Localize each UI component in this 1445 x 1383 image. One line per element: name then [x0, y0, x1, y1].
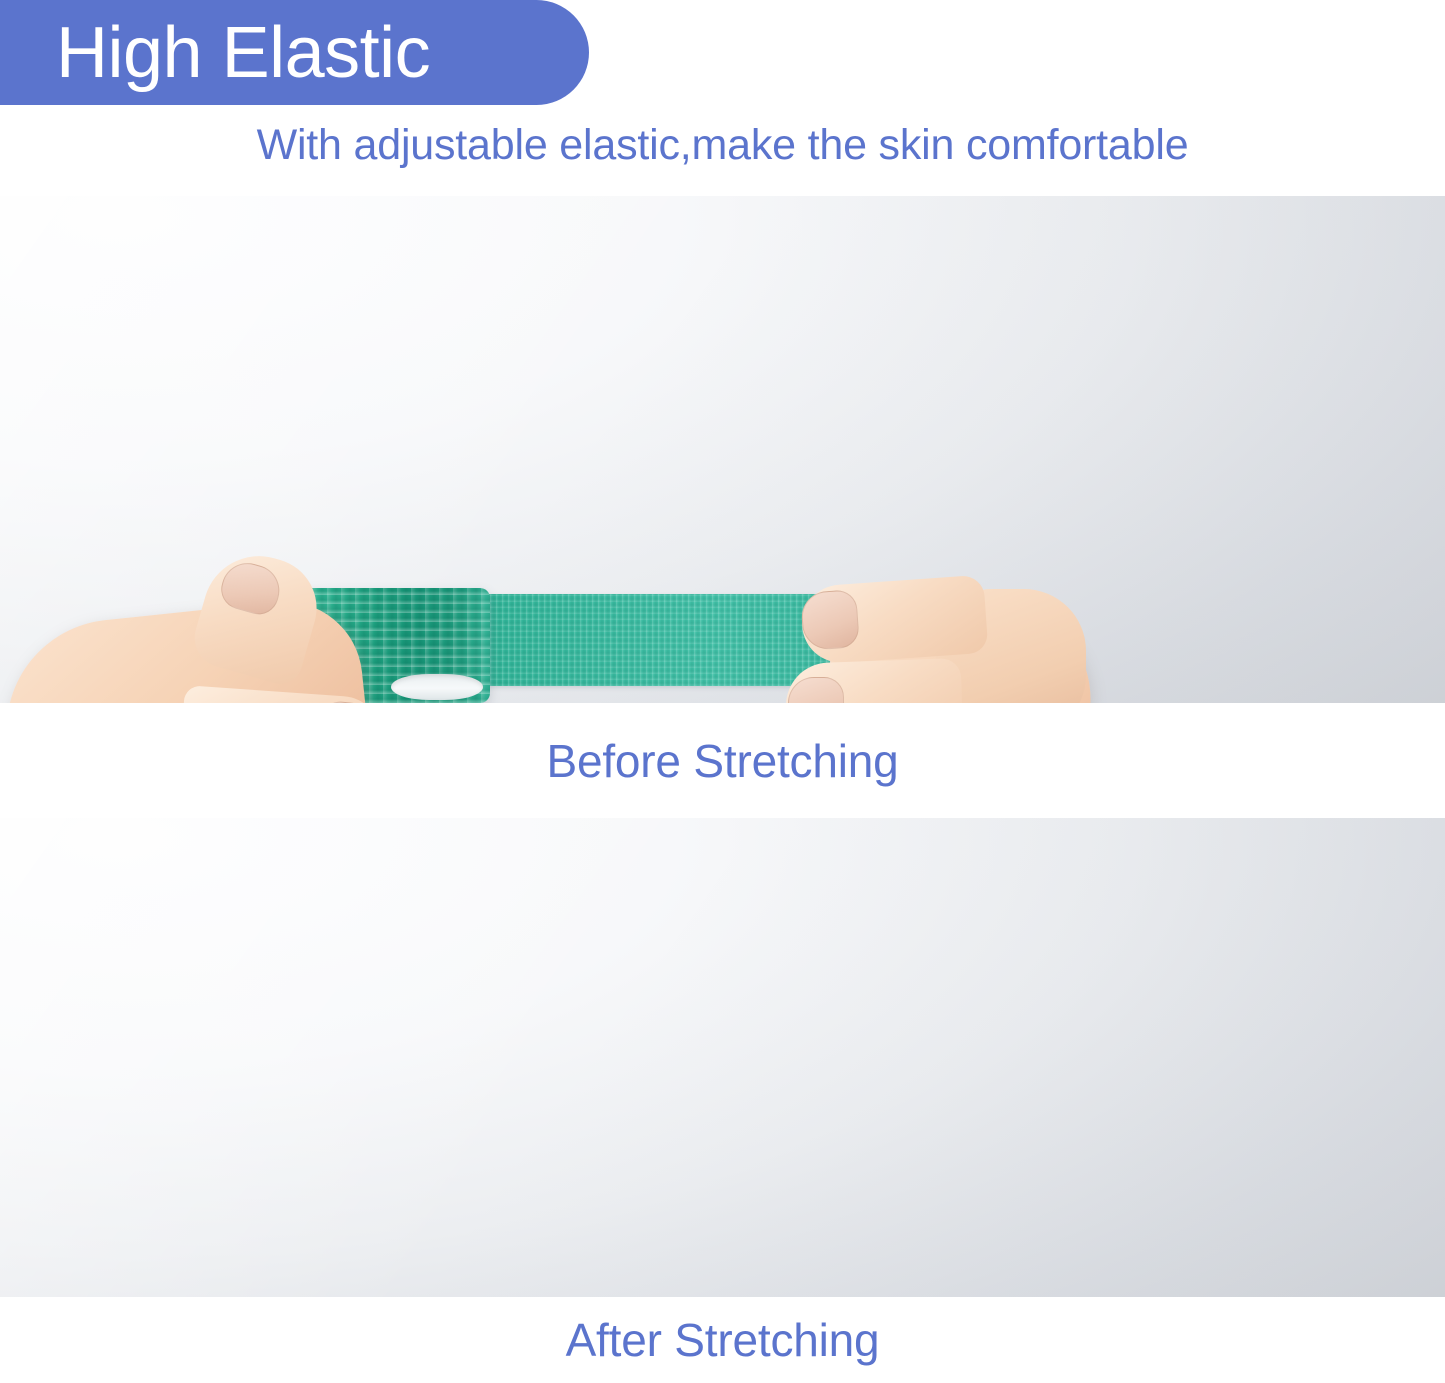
photo-after-stretching — [0, 818, 1445, 1297]
hand-left-icon — [10, 556, 410, 703]
finger-nail-index — [800, 589, 860, 651]
caption-after: After Stretching — [0, 1297, 1445, 1383]
photo-before-stretching — [0, 196, 1445, 703]
bandage-strip-icon — [430, 594, 830, 686]
caption-before-text: Before Stretching — [546, 734, 898, 788]
caption-after-text: After Stretching — [566, 1313, 880, 1367]
header: High Elastic With adjustable elastic,mak… — [0, 0, 1445, 196]
title-text: High Elastic — [0, 17, 430, 89]
subtitle-text: With adjustable elastic,make the skin co… — [0, 121, 1445, 170]
infographic-page: High Elastic With adjustable elastic,mak… — [0, 0, 1445, 1383]
hand-right-icon — [786, 561, 1116, 703]
caption-before: Before Stretching — [0, 703, 1445, 818]
title-badge: High Elastic — [0, 0, 589, 105]
